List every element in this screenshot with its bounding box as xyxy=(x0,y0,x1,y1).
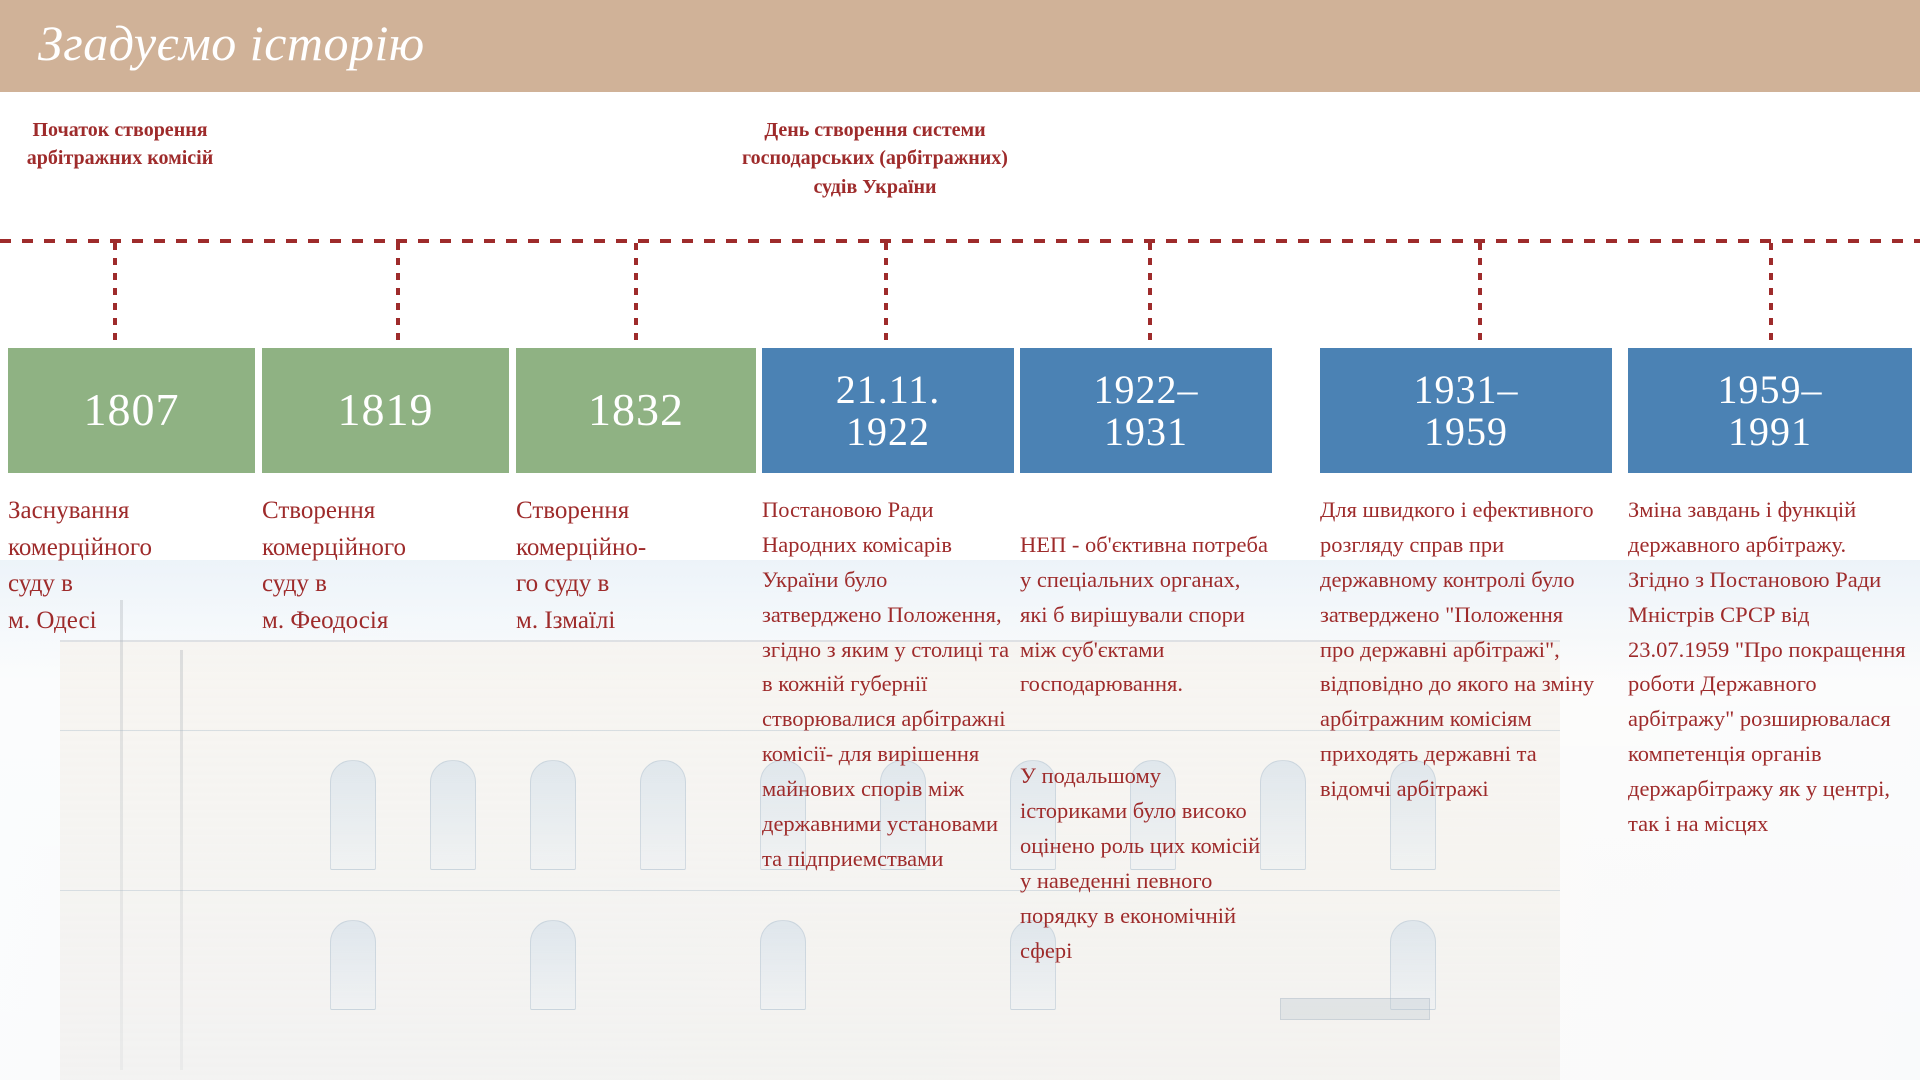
entry-description-1959-1991: Зміна завдань і функцій державного арбіт… xyxy=(1628,493,1908,842)
year-badge-1819[interactable]: 1819 xyxy=(262,348,509,473)
entry-paragraph-2: У подальшому істориками було високо оцін… xyxy=(1020,759,1272,968)
timeline-entry-1959-1991[interactable]: 1959– 1991 Зміна завдань і функцій держа… xyxy=(1628,348,1912,842)
timeline-entry-1807[interactable]: 1807 Заснування комерційного суду в м. О… xyxy=(8,348,255,639)
timeline-entry-1832[interactable]: 1832 Створення комерційно- го суду в м. … xyxy=(516,348,756,639)
timeline-entry-1931-1959[interactable]: 1931– 1959 Для швидкого і ефективного ро… xyxy=(1320,348,1612,807)
entry-description-21-11-1922: Постановою Ради Народних комісарів Украї… xyxy=(762,493,1010,877)
year-badge-21-11-1922[interactable]: 21.11. 1922 xyxy=(762,348,1014,473)
entry-description-1931-1959: Для швидкого і ефективного розгляду спра… xyxy=(1320,493,1600,807)
year-badge-1807[interactable]: 1807 xyxy=(8,348,255,473)
year-badge-1931-1959[interactable]: 1931– 1959 xyxy=(1320,348,1612,473)
timeline-entry-1819[interactable]: 1819 Створення комерційного суду в м. Фе… xyxy=(262,348,509,639)
entry-description-1807: Заснування комерційного суду в м. Одесі xyxy=(8,493,253,639)
timeline-entry-21-11-1922[interactable]: 21.11. 1922 Постановою Ради Народних ком… xyxy=(762,348,1014,877)
timeline-entry-1922-1931[interactable]: 1922– 1931 НЕП - об'єктивна потреба у сп… xyxy=(1020,348,1272,1003)
timeline-columns: 1807 Заснування комерційного суду в м. О… xyxy=(0,0,1920,1080)
entry-description-1832: Створення комерційно- го суду в м. Ізмаї… xyxy=(516,493,754,639)
year-badge-1959-1991[interactable]: 1959– 1991 xyxy=(1628,348,1912,473)
entry-description-1922-1931: НЕП - об'єктивна потреба у спеціальних о… xyxy=(1020,493,1272,1003)
year-badge-1832[interactable]: 1832 xyxy=(516,348,756,473)
entry-description-1819: Створення комерційного суду в м. Феодосі… xyxy=(262,493,507,639)
entry-paragraph-1: НЕП - об'єктивна потреба у спеціальних о… xyxy=(1020,528,1272,702)
year-badge-1922-1931[interactable]: 1922– 1931 xyxy=(1020,348,1272,473)
